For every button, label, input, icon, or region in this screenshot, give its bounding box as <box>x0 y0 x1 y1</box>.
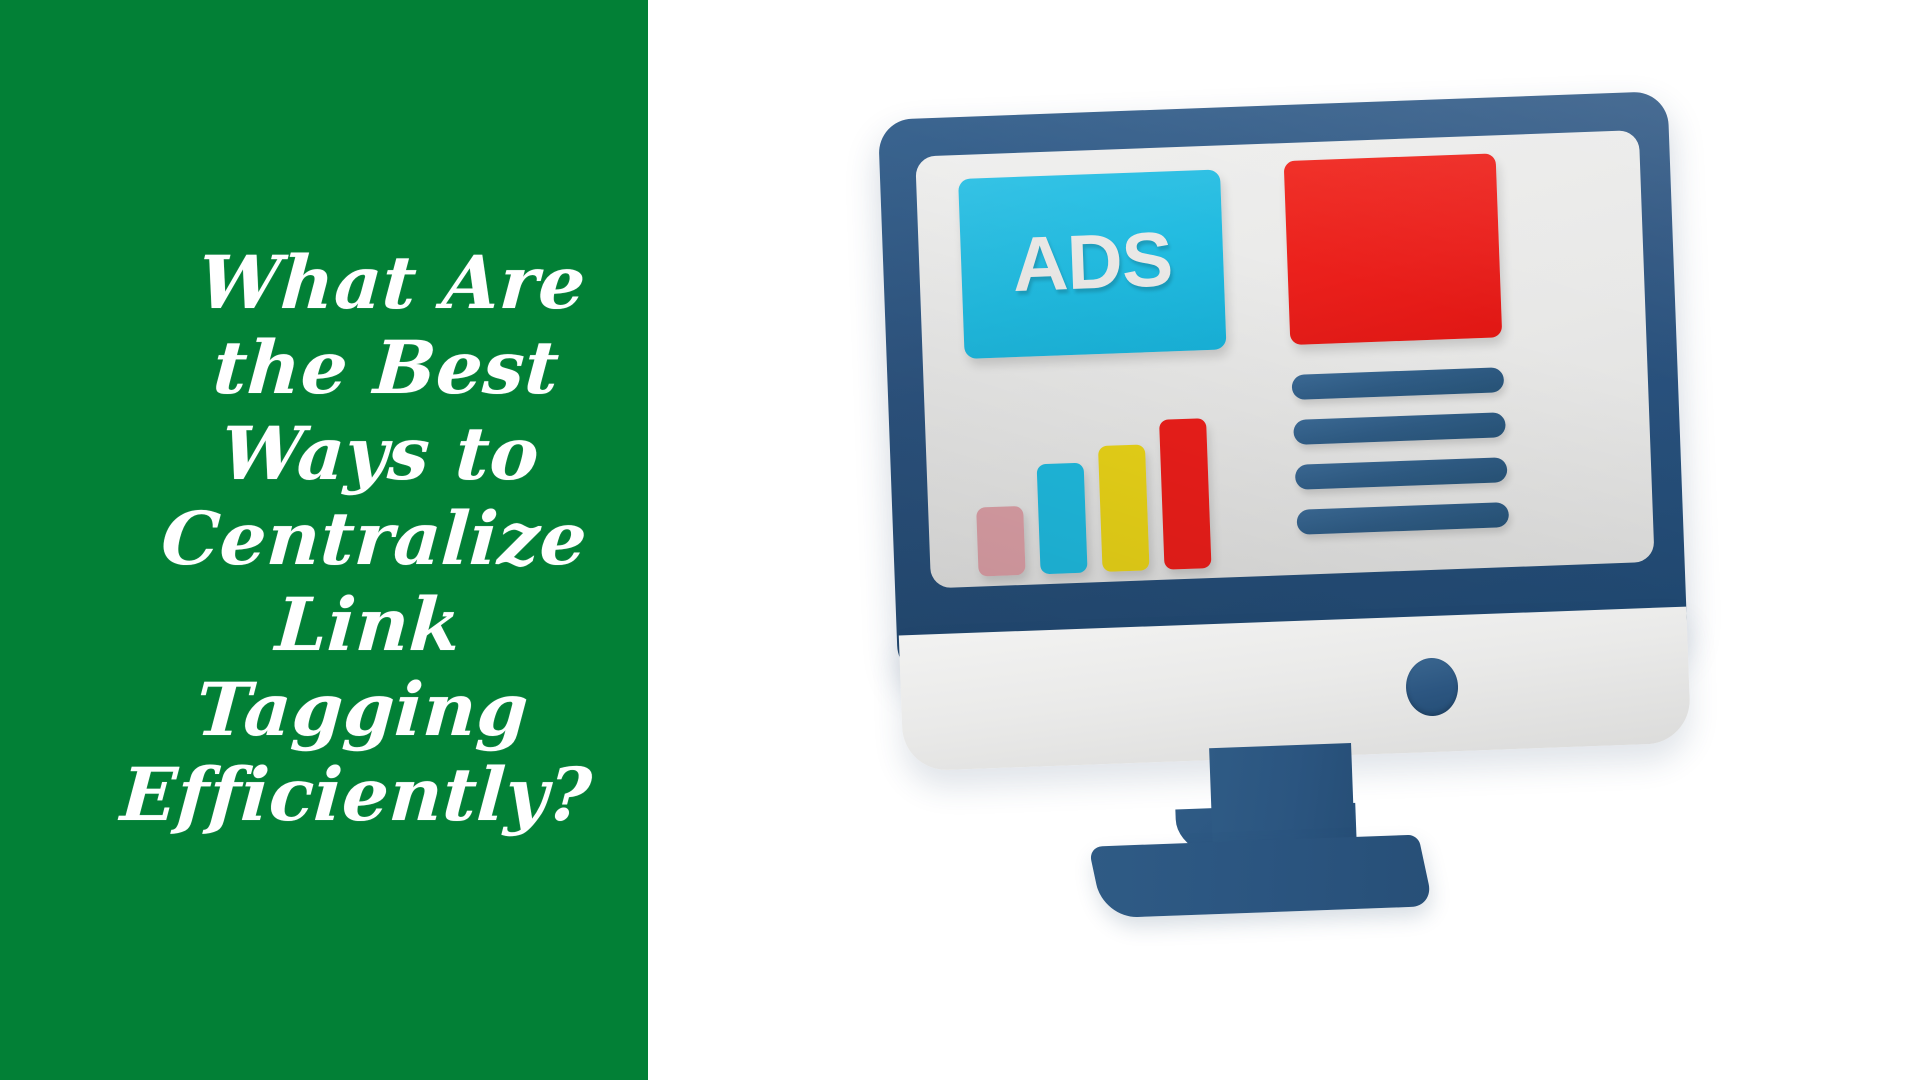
text-line-bar <box>1293 412 1506 445</box>
chart-bar <box>1159 418 1211 570</box>
monitor-bezel: ADS <box>878 91 1688 680</box>
ads-banner: ADS <box>958 169 1226 358</box>
chart-bar <box>1037 463 1088 575</box>
ads-banner-label: ADS <box>1011 221 1173 304</box>
hero-image-block <box>1284 153 1503 345</box>
text-lines-group <box>1292 367 1512 545</box>
bar-chart <box>973 417 1248 577</box>
text-line-bar <box>1292 367 1505 400</box>
power-indicator-icon <box>1405 657 1459 717</box>
text-line-bar <box>1296 502 1509 535</box>
illustration-panel: ADS <box>648 0 1920 1080</box>
chart-bar <box>1098 444 1150 572</box>
monitor-illustration: ADS <box>878 91 1708 960</box>
slide-canvas: What Are the Best Ways to Centralize Lin… <box>0 0 1920 1080</box>
title-panel: What Are the Best Ways to Centralize Lin… <box>0 0 648 1080</box>
monitor-base <box>1088 835 1433 919</box>
headline-block: What Are the Best Ways to Centralize Lin… <box>0 0 648 1080</box>
monitor-screen: ADS <box>915 130 1654 588</box>
page-title: What Are the Best Ways to Centralize Lin… <box>118 241 630 839</box>
text-line-bar <box>1295 457 1508 490</box>
chart-bar <box>976 506 1025 577</box>
